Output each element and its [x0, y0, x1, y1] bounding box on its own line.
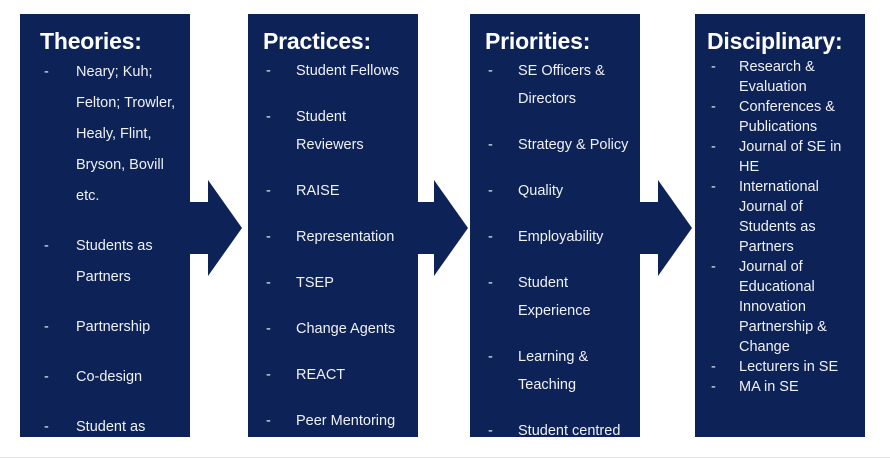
column-practices: Practices: - Student Fellows - Student R…	[248, 14, 418, 437]
list-item: - Quality	[488, 177, 632, 205]
right-arrow-icon	[628, 176, 692, 280]
column-item-list-theories: - Neary; Kuh; Felton; Trowler, Healy, Fl…	[20, 57, 190, 437]
bullet-dash-icon: -	[266, 361, 271, 389]
list-item-label: Change Agents	[296, 315, 410, 343]
list-item: - Research & Evaluation	[711, 57, 861, 97]
list-item: - Journal of SE in HE	[711, 137, 861, 177]
list-item: - REACT	[266, 361, 410, 389]
column-theories: Theories: - Neary; Kuh; Felton; Trowler,…	[20, 14, 190, 437]
list-item-label: Co-design	[76, 362, 182, 393]
list-item-label: Research & Evaluation	[739, 57, 861, 97]
bullet-dash-icon: -	[488, 223, 493, 251]
bullet-dash-icon: -	[266, 407, 271, 435]
right-arrow-icon	[178, 176, 242, 280]
bullet-dash-icon: -	[266, 103, 271, 131]
list-item-label: Journal of Educational Innovation Partne…	[739, 257, 861, 357]
list-item-label: Students as Partners	[76, 231, 182, 293]
bullet-dash-icon: -	[266, 269, 271, 297]
list-item: - International Journal of Students as P…	[711, 177, 861, 257]
list-item: - Peer Mentoring (PAL, PASS)	[266, 407, 410, 437]
list-item-label: Representation	[296, 223, 410, 251]
list-item: - Student Fellows	[266, 57, 410, 85]
list-item: - Change Agents	[266, 315, 410, 343]
diagram-canvas: Theories: - Neary; Kuh; Felton; Trowler,…	[0, 0, 890, 458]
list-item: - MA in SE	[711, 377, 861, 397]
list-item: - Employability	[488, 223, 632, 251]
list-item: - Lecturers in SE	[711, 357, 861, 377]
bullet-dash-icon: -	[711, 177, 716, 197]
bullet-dash-icon: -	[488, 269, 493, 297]
list-item-label: Conferences & Publications	[739, 97, 861, 137]
list-item: - Partnership	[44, 312, 182, 343]
list-item-label: Student Experience	[518, 269, 632, 325]
bullet-dash-icon: -	[711, 137, 716, 157]
bullet-dash-icon: -	[44, 412, 49, 437]
column-heading-priorities: Priorities:	[470, 14, 640, 57]
list-item-label: TSEP	[296, 269, 410, 297]
list-item-label: MA in SE	[739, 377, 861, 397]
bullet-dash-icon: -	[488, 343, 493, 371]
list-item: - Student Experience	[488, 269, 632, 325]
list-item: - Co-design	[44, 362, 182, 393]
list-item-label: Student Reviewers	[296, 103, 410, 159]
list-item: - Strategy & Policy	[488, 131, 632, 159]
list-item-label: Lecturers in SE	[739, 357, 861, 377]
bullet-dash-icon: -	[266, 315, 271, 343]
list-item: - Student as Producer	[44, 412, 182, 437]
column-heading-practices: Practices:	[248, 14, 418, 57]
bullet-dash-icon: -	[488, 417, 493, 437]
list-item-label: Peer Mentoring (PAL, PASS)	[296, 407, 410, 437]
column-priorities: Priorities: - SE Officers & Directors - …	[470, 14, 640, 437]
list-item: - RAISE	[266, 177, 410, 205]
bullet-dash-icon: -	[711, 357, 716, 377]
column-item-list-disciplinary: - Research & Evaluation - Conferences & …	[695, 57, 865, 397]
bullet-dash-icon: -	[266, 177, 271, 205]
list-item: - Neary; Kuh; Felton; Trowler, Healy, Fl…	[44, 57, 182, 212]
bullet-dash-icon: -	[44, 57, 49, 88]
bullet-dash-icon: -	[711, 377, 716, 397]
list-item: - SE Officers & Directors	[488, 57, 632, 113]
list-item: - Representation	[266, 223, 410, 251]
list-item: - Journal of Educational Innovation Part…	[711, 257, 861, 357]
bullet-dash-icon: -	[488, 57, 493, 85]
list-item: - Learning & Teaching	[488, 343, 632, 399]
bullet-dash-icon: -	[711, 257, 716, 277]
list-item: - Students as Partners	[44, 231, 182, 293]
bullet-dash-icon: -	[44, 231, 49, 262]
list-item-label: Student Fellows	[296, 57, 410, 85]
column-disciplinary: Disciplinary: - Research & Evaluation - …	[695, 14, 865, 437]
bullet-dash-icon: -	[711, 97, 716, 117]
list-item-label: Journal of SE in HE	[739, 137, 861, 177]
list-item-label: Student centred	[518, 417, 632, 437]
list-item-label: Partnership	[76, 312, 182, 343]
bullet-dash-icon: -	[488, 177, 493, 205]
list-item-label: RAISE	[296, 177, 410, 205]
bullet-dash-icon: -	[44, 312, 49, 343]
list-item: - Student Reviewers	[266, 103, 410, 159]
list-item: - Student centred	[488, 417, 632, 437]
list-item-label: SE Officers & Directors	[518, 57, 632, 113]
list-item: - TSEP	[266, 269, 410, 297]
list-item-label: Quality	[518, 177, 632, 205]
list-item-label: International Journal of Students as Par…	[739, 177, 861, 257]
column-item-list-priorities: - SE Officers & Directors - Strategy & P…	[470, 57, 640, 437]
bullet-dash-icon: -	[488, 131, 493, 159]
list-item: - Conferences & Publications	[711, 97, 861, 137]
list-item-label: Employability	[518, 223, 632, 251]
bullet-dash-icon: -	[44, 362, 49, 393]
right-arrow-icon	[404, 176, 468, 280]
list-item-label: Student as Producer	[76, 412, 182, 437]
list-item-label: Strategy & Policy	[518, 131, 632, 159]
bullet-dash-icon: -	[711, 57, 716, 77]
list-item-label: Learning & Teaching	[518, 343, 632, 399]
column-item-list-practices: - Student Fellows - Student Reviewers - …	[248, 57, 418, 437]
list-item-label: Neary; Kuh; Felton; Trowler, Healy, Flin…	[76, 57, 182, 212]
bullet-dash-icon: -	[266, 223, 271, 251]
list-item-label: REACT	[296, 361, 410, 389]
column-heading-theories: Theories:	[20, 14, 190, 57]
bullet-dash-icon: -	[266, 57, 271, 85]
column-heading-disciplinary: Disciplinary:	[695, 14, 865, 57]
